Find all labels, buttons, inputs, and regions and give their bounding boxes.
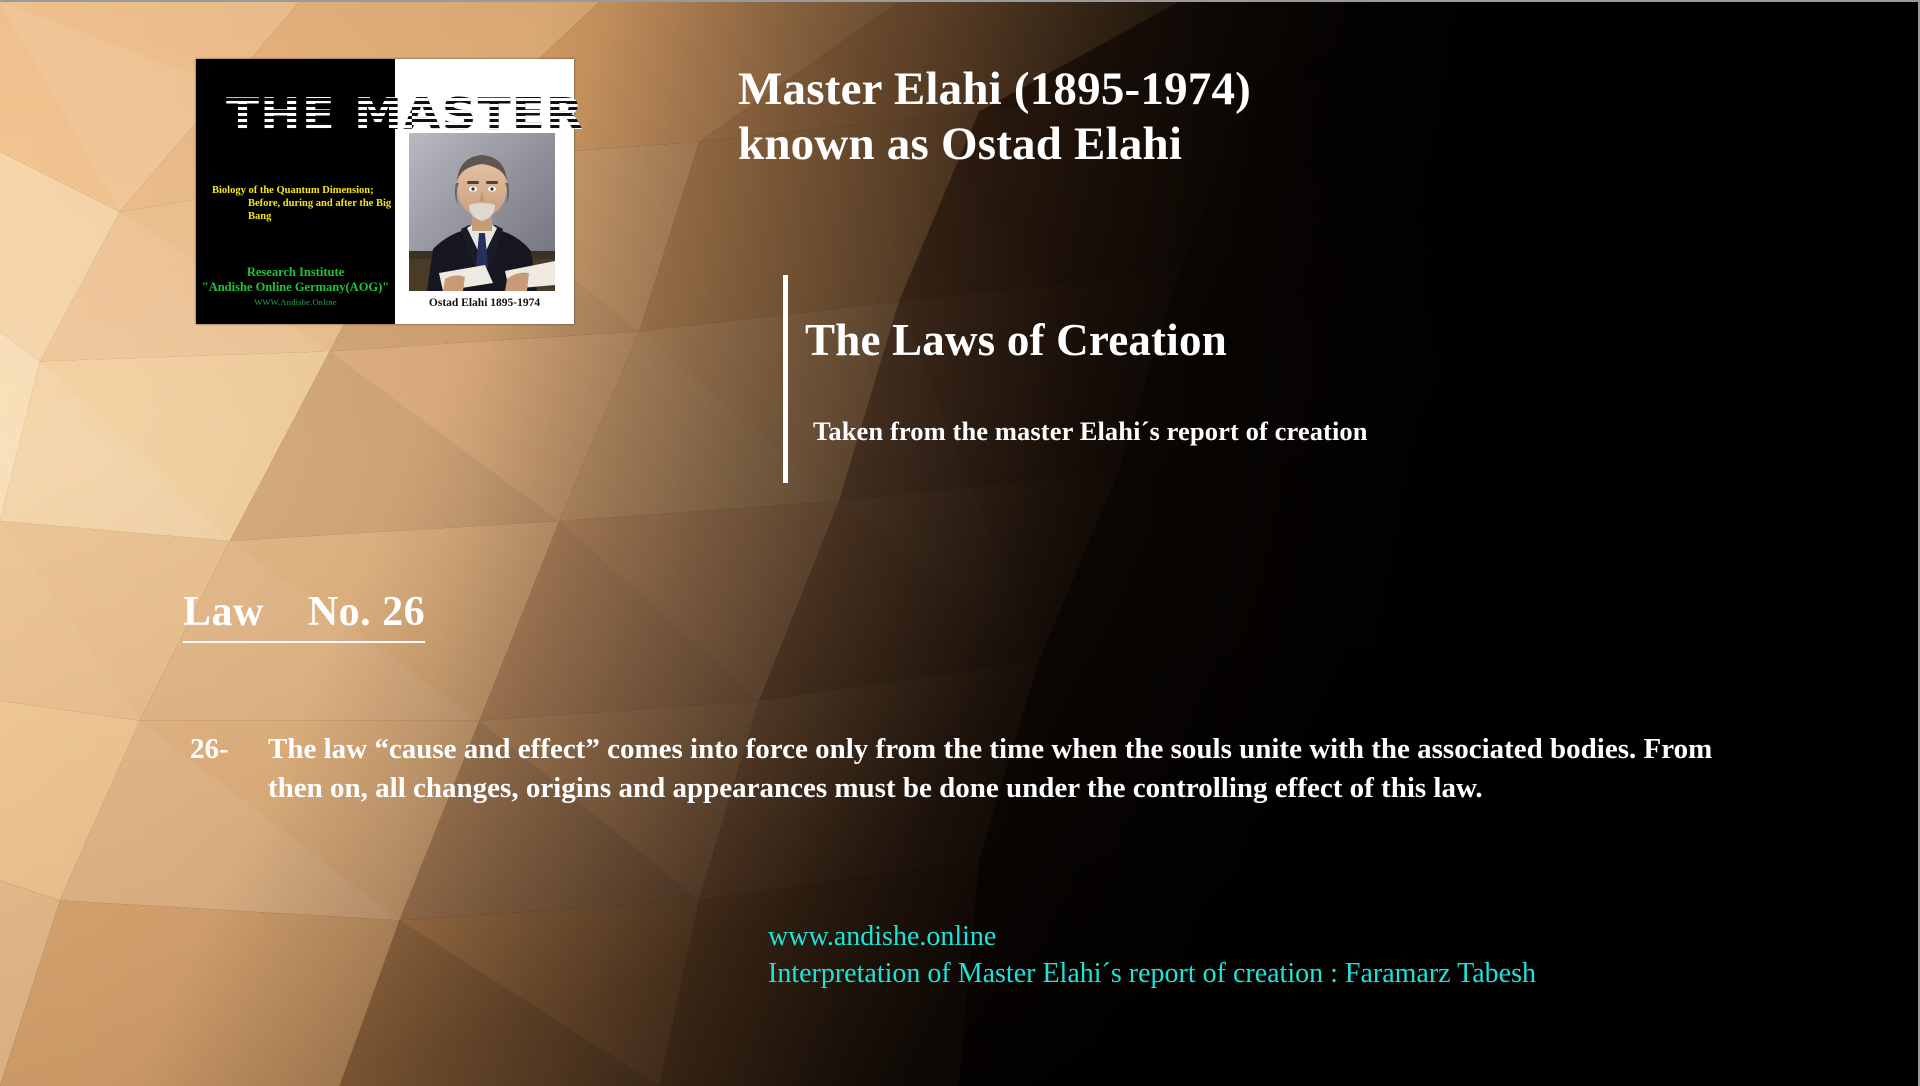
book-cover-image: Biology of the Quantum Dimension; Before… [196, 59, 574, 324]
vertical-accent-bar [783, 275, 788, 483]
law-body-number: 26- [190, 730, 229, 769]
book-cover-subtitle-line2: Before, during and after the Big Bang [212, 197, 392, 223]
page-title: Master Elahi (1895-1974) known as Ostad … [738, 62, 1638, 171]
ostad-elahi-portrait-photo [409, 133, 555, 291]
institute-name-line1: Research Institute [196, 265, 395, 280]
book-cover-institute-block: Research Institute "Andishe Online Germa… [196, 265, 395, 307]
institute-website: WWW.Andishe.Online [196, 297, 395, 307]
law-body-text: 26- The law “cause and effect” comes int… [190, 730, 1730, 807]
page-title-line1: Master Elahi (1895-1974) [738, 62, 1638, 117]
slide-canvas: Biology of the Quantum Dimension; Before… [0, 0, 1920, 1086]
footer-website-link[interactable]: www.andishe.online [768, 919, 1536, 956]
section-subtitle: Taken from the master Elahi´s report of … [813, 416, 1368, 447]
portrait-caption: Ostad Elahi 1895-1974 [395, 297, 574, 309]
law-body-paragraph: The law “cause and effect” comes into fo… [190, 730, 1730, 807]
footer-credits: www.andishe.online Interpretation of Mas… [768, 919, 1536, 993]
book-cover-subtitle-line1: Biology of the Quantum Dimension; [212, 185, 374, 196]
page-title-line2: known as Ostad Elahi [738, 117, 1638, 172]
book-cover-subtitle: Biology of the Quantum Dimension; Before… [212, 184, 392, 223]
section-title: The Laws of Creation [805, 314, 1227, 366]
institute-name-line2: "Andishe Online Germany(AOG)" [196, 280, 395, 295]
footer-credit-line: Interpretation of Master Elahi´s report … [768, 956, 1536, 993]
law-number-heading: Law No. 26 [183, 588, 425, 643]
portrait-illustration [409, 133, 555, 291]
